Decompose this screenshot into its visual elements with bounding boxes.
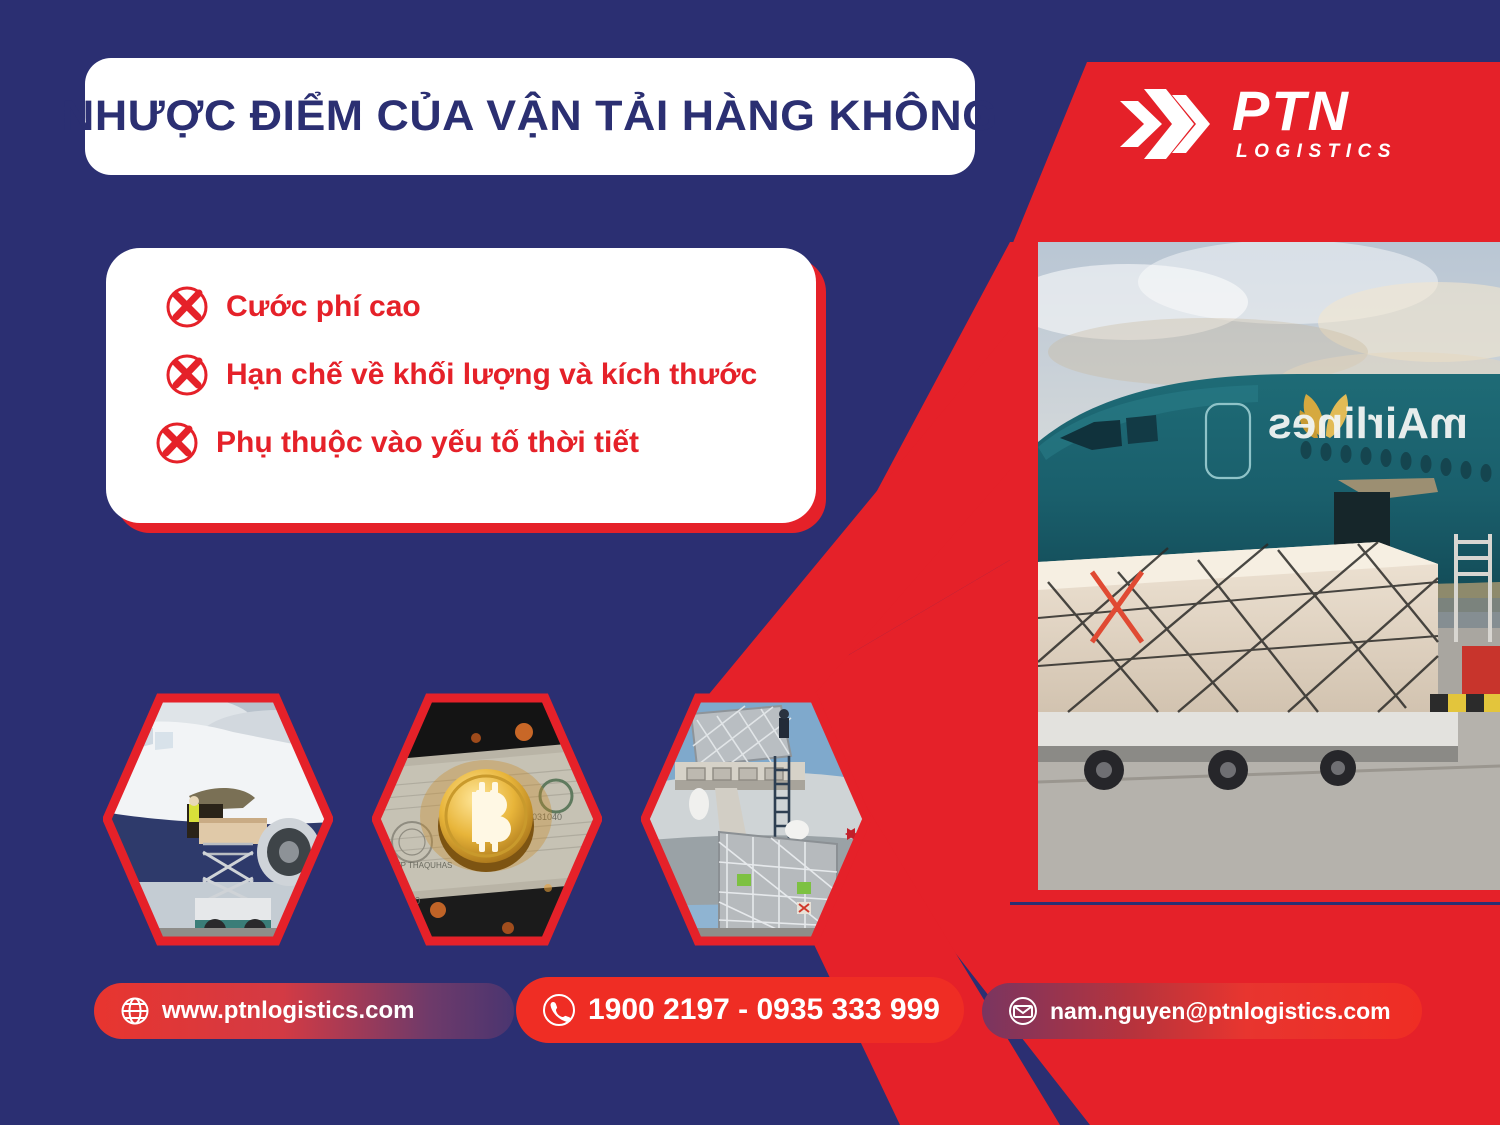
disadvantages-card: Cước phí cao Hạn chế về khối lượng và kí… xyxy=(106,248,826,533)
gallery-item: S xyxy=(641,692,871,947)
brand-name: PTN xyxy=(1232,84,1397,137)
infographic-canvas: mAirlines xyxy=(0,0,1500,1125)
gallery-item xyxy=(103,692,333,947)
circle-x-icon xyxy=(154,420,200,466)
phone-text: 1900 2197 - 0935 333 999 xyxy=(588,993,940,1027)
disadvantages-list: Cước phí cao Hạn chế về khối lượng và kí… xyxy=(106,248,816,523)
phone-pill[interactable]: 1900 2197 - 0935 333 999 xyxy=(516,977,964,1043)
email-pill[interactable]: nam.nguyen@ptnlogistics.com xyxy=(982,983,1422,1039)
list-item-label: Hạn chế về khối lượng và kích thước xyxy=(226,358,757,392)
svg-text:mAirlines: mAirlines xyxy=(1267,399,1468,448)
envelope-icon xyxy=(1008,996,1038,1026)
page-title: NHƯỢC ĐIỂM CỦA VẬN TẢI HÀNG KHÔNG xyxy=(62,92,997,141)
list-item: Hạn chế về khối lượng và kích thước xyxy=(164,352,816,398)
brand-tagline: LOGISTICS xyxy=(1236,141,1397,163)
list-item-label: Cước phí cao xyxy=(226,290,421,324)
circle-x-icon xyxy=(164,284,210,330)
main-photo: mAirlines xyxy=(1038,242,1500,890)
list-item: Cước phí cao xyxy=(164,284,816,330)
cargo-plane-loading-photo xyxy=(103,692,333,947)
website-pill[interactable]: www.ptnlogistics.com xyxy=(94,983,514,1039)
list-item: Phụ thuộc vào yếu tố thời tiết xyxy=(154,420,816,466)
bitcoin-dollar-photo: 031040 PEJP THAQUHAS SEO 1000 xyxy=(372,692,602,947)
page-title-card: NHƯỢC ĐIỂM CỦA VẬN TẢI HÀNG KHÔNG xyxy=(85,58,975,175)
air-cargo-container-photo: S xyxy=(641,692,871,947)
circle-x-icon xyxy=(164,352,210,398)
email-text: nam.nguyen@ptnlogistics.com xyxy=(1050,998,1391,1025)
phone-icon xyxy=(542,993,576,1027)
gallery-item: 031040 PEJP THAQUHAS SEO 1000 xyxy=(372,692,602,947)
vietnam-airlines-cargo-photo: mAirlines xyxy=(1038,242,1500,890)
list-item-label: Phụ thuộc vào yếu tố thời tiết xyxy=(216,426,639,460)
double-chevron-icon xyxy=(1118,85,1214,163)
website-text: www.ptnlogistics.com xyxy=(162,997,414,1025)
photo-gallery: 031040 PEJP THAQUHAS SEO 1000 xyxy=(0,682,1000,952)
contact-footer: www.ptnlogistics.com 1900 2197 - 0935 33… xyxy=(0,975,1500,1047)
globe-icon xyxy=(120,996,150,1026)
brand-logo: PTN LOGISTICS xyxy=(1118,84,1397,163)
